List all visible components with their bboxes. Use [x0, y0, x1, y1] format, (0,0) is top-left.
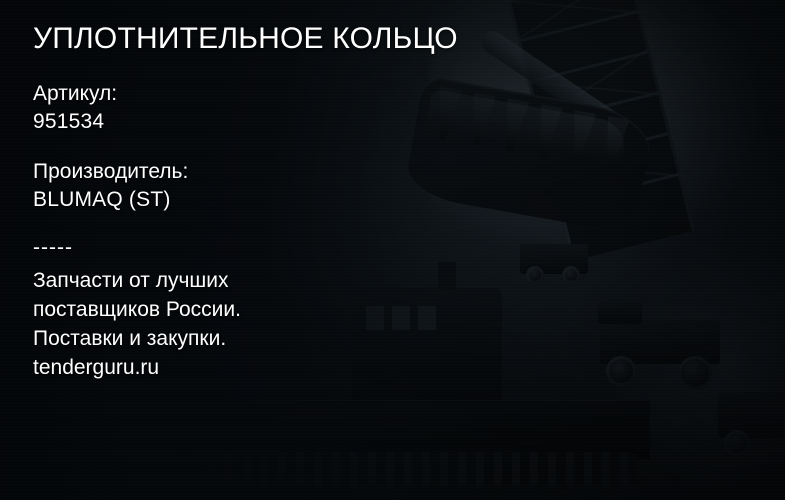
field-article: Артикул: 951534 — [33, 80, 785, 136]
promo-line-3: Поставки и закупки. — [33, 324, 785, 353]
field-manufacturer: Производитель: BLUMAQ (ST) — [33, 158, 785, 214]
page-title: УПЛОТНИТЕЛЬНОЕ КОЛЬЦО — [33, 22, 785, 56]
promo-site-url: tenderguru.ru — [33, 353, 785, 382]
product-banner-card: УПЛОТНИТЕЛЬНОЕ КОЛЬЦО Артикул: 951534 Пр… — [0, 0, 785, 500]
text-divider: ----- — [33, 236, 785, 260]
promo-line-2: поставщиков России. — [33, 295, 785, 324]
field-article-label: Артикул: — [33, 80, 785, 108]
field-article-value: 951534 — [33, 108, 785, 136]
field-manufacturer-label: Производитель: — [33, 158, 785, 186]
promo-line-1: Запчасти от лучших — [33, 266, 785, 295]
promo-block: Запчасти от лучших поставщиков России. П… — [33, 266, 785, 382]
field-manufacturer-value: BLUMAQ (ST) — [33, 186, 785, 214]
card-content: УПЛОТНИТЕЛЬНОЕ КОЛЬЦО Артикул: 951534 Пр… — [33, 22, 785, 382]
